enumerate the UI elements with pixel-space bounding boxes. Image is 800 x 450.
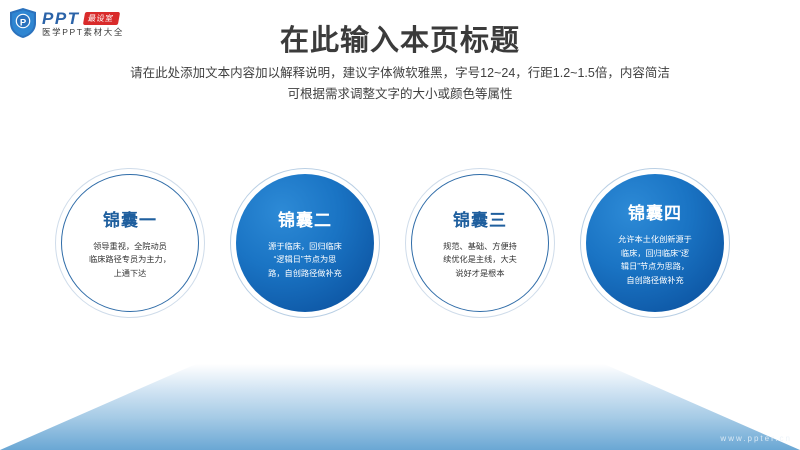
- page-title: 在此输入本页标题: [0, 17, 800, 59]
- node-body-line: 自创路径做补充: [618, 274, 692, 288]
- node-body: 源于临床，回归临床 “逻辑日”节点为思 路，自创路径做补充: [268, 240, 342, 281]
- slide-canvas: P PPT 最设室 医学PPT素材大全 在此输入本页标题 请在此处添加文本内容加…: [0, 0, 800, 450]
- node-body-line: 路，自创路径做补充: [268, 267, 342, 281]
- node-body-line: 上通下达: [89, 267, 171, 281]
- node-body-line: 规范、基础、方便持: [443, 240, 517, 254]
- node-group: 锦囊一 领导重视，全院动员 临床路径专员为主力， 上通下达 锦囊二 源于临床，回…: [0, 168, 800, 318]
- node-heading: 锦囊四: [628, 199, 682, 224]
- node-body-line: 临床路径专员为主力，: [89, 253, 171, 267]
- subtitle-line-1: 请在此处添加文本内容加以解释说明，建议字体微软雅黑，字号12~24，行距1.2~…: [0, 63, 800, 84]
- node-body-line: 允许本土化创新源于: [618, 233, 692, 247]
- watermark-text: www.ppter.cn: [720, 434, 792, 443]
- node-body: 规范、基础、方便持 续优化是主线，大夫 说好才是根本: [443, 240, 517, 281]
- node-card-4[interactable]: 锦囊四 允许本土化创新源于 临床，回归临床“逻 辑日”节点为思路， 自创路径做补…: [580, 168, 730, 318]
- node-body-line: 领导重视，全院动员: [89, 240, 171, 254]
- node-card-1[interactable]: 锦囊一 领导重视，全院动员 临床路径专员为主力， 上通下达: [55, 168, 205, 318]
- node-body-line: 源于临床，回归临床: [268, 240, 342, 254]
- node-content: 锦囊三 规范、基础、方便持 续优化是主线，大夫 说好才是根本: [405, 168, 555, 318]
- node-heading: 锦囊二: [278, 206, 332, 231]
- node-body-line: 续优化是主线，大夫: [443, 253, 517, 267]
- node-body-line: 临床，回归临床“逻: [618, 247, 692, 261]
- node-heading: 锦囊一: [103, 206, 157, 231]
- node-content: 锦囊一 领导重视，全院动员 临床路径专员为主力， 上通下达: [55, 168, 205, 318]
- node-content: 锦囊二 源于临床，回归临床 “逻辑日”节点为思 路，自创路径做补充: [230, 168, 380, 318]
- node-body-line: “逻辑日”节点为思: [268, 253, 342, 267]
- node-heading: 锦囊三: [453, 206, 507, 231]
- node-body-line: 辑日”节点为思路，: [618, 260, 692, 274]
- node-body: 允许本土化创新源于 临床，回归临床“逻 辑日”节点为思路， 自创路径做补充: [618, 233, 692, 287]
- node-content: 锦囊四 允许本土化创新源于 临床，回归临床“逻 辑日”节点为思路， 自创路径做补…: [580, 168, 730, 318]
- node-card-2[interactable]: 锦囊二 源于临床，回归临床 “逻辑日”节点为思 路，自创路径做补充: [230, 168, 380, 318]
- platform-shape: [0, 364, 800, 450]
- node-card-3[interactable]: 锦囊三 规范、基础、方便持 续优化是主线，大夫 说好才是根本: [405, 168, 555, 318]
- subtitle-line-2: 可根据需求调整文字的大小或颜色等属性: [0, 84, 800, 105]
- node-body-line: 说好才是根本: [443, 267, 517, 281]
- node-body: 领导重视，全院动员 临床路径专员为主力， 上通下达: [89, 240, 171, 281]
- page-subtitle: 请在此处添加文本内容加以解释说明，建议字体微软雅黑，字号12~24，行距1.2~…: [0, 63, 800, 105]
